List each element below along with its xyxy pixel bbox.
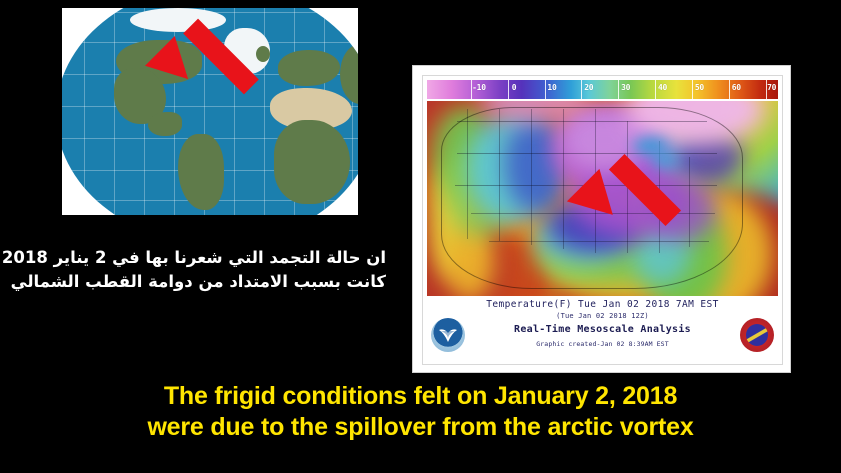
english-caption: The frigid conditions felt on January 2,… (0, 381, 841, 442)
colorbar-tick-label: 20 (584, 83, 593, 92)
landmass-uk (256, 46, 270, 62)
state-border (467, 109, 468, 239)
state-border (689, 157, 690, 247)
landmass-south-america (178, 134, 224, 210)
arabic-caption: ان حالة التجمد التي شعرنا بها في 2 يناير… (1, 246, 386, 294)
state-border (563, 109, 564, 249)
landmass-africa (274, 120, 350, 204)
weather-map-panel: -10 0 10 20 30 40 50 60 70 (413, 66, 790, 372)
globe-annotation-arrow (160, 8, 256, 102)
footer-title: Temperature(F) Tue Jan 02 2018 7AM EST (486, 299, 719, 310)
landmass-central-america (148, 112, 182, 136)
colorbar-tick-label: 0 (512, 83, 517, 92)
state-border (531, 109, 532, 245)
globe-sphere (62, 8, 358, 215)
colorbar-tick-label: 50 (695, 83, 704, 92)
footer-created-time: Graphic created-Jan 02 8:39AM EST (536, 340, 668, 348)
globe-image (62, 8, 358, 215)
state-border (489, 241, 709, 242)
caption-line-2: were due to the spillover from the arcti… (0, 412, 841, 443)
temperature-colorbar: -10 0 10 20 30 40 50 60 70 (427, 80, 778, 99)
state-border (457, 121, 707, 122)
colorbar-tick-label: 40 (658, 83, 667, 92)
weather-map-annotation-arrow (585, 139, 681, 235)
footer-valid-time: (Tue Jan 02 2018 12Z) (556, 312, 649, 320)
colorbar-tick-label: 10 (547, 83, 556, 92)
colorbar-tick-label: -10 (472, 83, 486, 92)
slide-canvas: -10 0 10 20 30 40 50 60 70 (0, 0, 841, 473)
noaa-logo (431, 318, 465, 352)
landmass-europe (278, 50, 340, 86)
state-border (499, 109, 500, 241)
globe-canvas (62, 8, 358, 215)
noaa-seagull-icon (438, 327, 458, 343)
colorbar-tick-label: 60 (732, 83, 741, 92)
footer-product-name: Real-Time Mesoscale Analysis (514, 324, 691, 335)
caption-line-1: The frigid conditions felt on January 2,… (0, 381, 841, 412)
landmass-asia-edge (340, 44, 358, 104)
colorbar-tick-label: 70 (767, 83, 776, 92)
weather-map-frame: -10 0 10 20 30 40 50 60 70 (422, 75, 783, 365)
temperature-heatmap (427, 101, 778, 296)
weather-map-footer: Temperature(F) Tue Jan 02 2018 7AM EST (… (427, 298, 778, 360)
national-weather-service-logo (740, 318, 774, 352)
colorbar-tick-label: 30 (621, 83, 630, 92)
nws-emblem-inner (746, 324, 768, 346)
